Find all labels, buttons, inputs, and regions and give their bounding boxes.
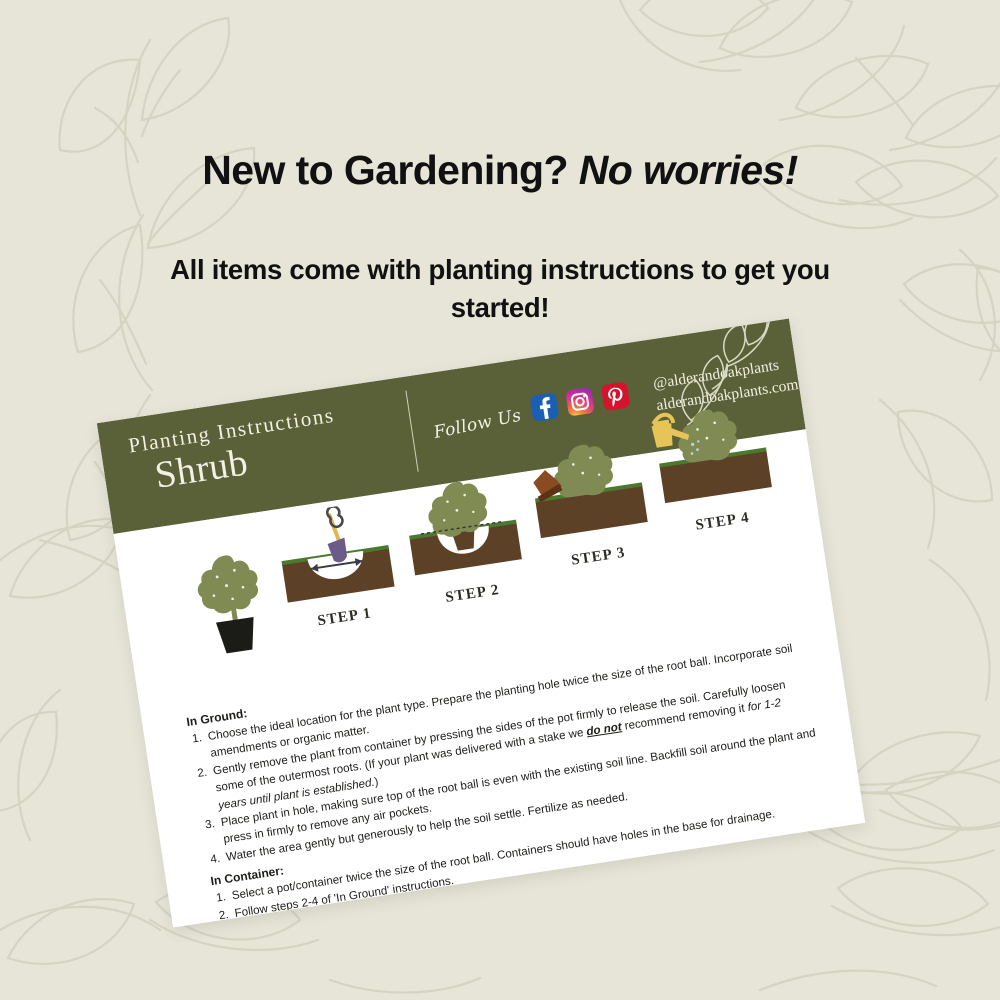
step-3-cell: STEP 3 — [524, 425, 655, 574]
social-links-row — [530, 382, 631, 422]
watering-can-icon — [648, 388, 775, 515]
facebook-icon[interactable] — [530, 392, 560, 422]
plant-in-hole-icon — [398, 462, 525, 588]
boot-tamping-soil-icon — [524, 425, 651, 551]
potted-shrub-icon — [186, 546, 279, 660]
emphasis-do-not: do not — [586, 720, 623, 738]
card-header-titles: Planting Instructions Shrub — [127, 404, 343, 500]
card-stage: Planting Instructions Shrub Follow Us — [0, 0, 1000, 1000]
step-2-cell: STEP 2 — [398, 462, 529, 611]
header-divider — [405, 390, 419, 471]
instagram-icon[interactable] — [565, 387, 595, 417]
step-4-cell: STEP 4 — [648, 388, 779, 539]
step-1-cell: STEP 1 — [273, 499, 402, 634]
follow-us-label: Follow Us — [432, 406, 523, 443]
pinterest-icon[interactable] — [601, 382, 631, 412]
planting-instructions-card: Planting Instructions Shrub Follow Us — [97, 319, 865, 928]
shovel-digging-hole-icon — [273, 499, 398, 611]
